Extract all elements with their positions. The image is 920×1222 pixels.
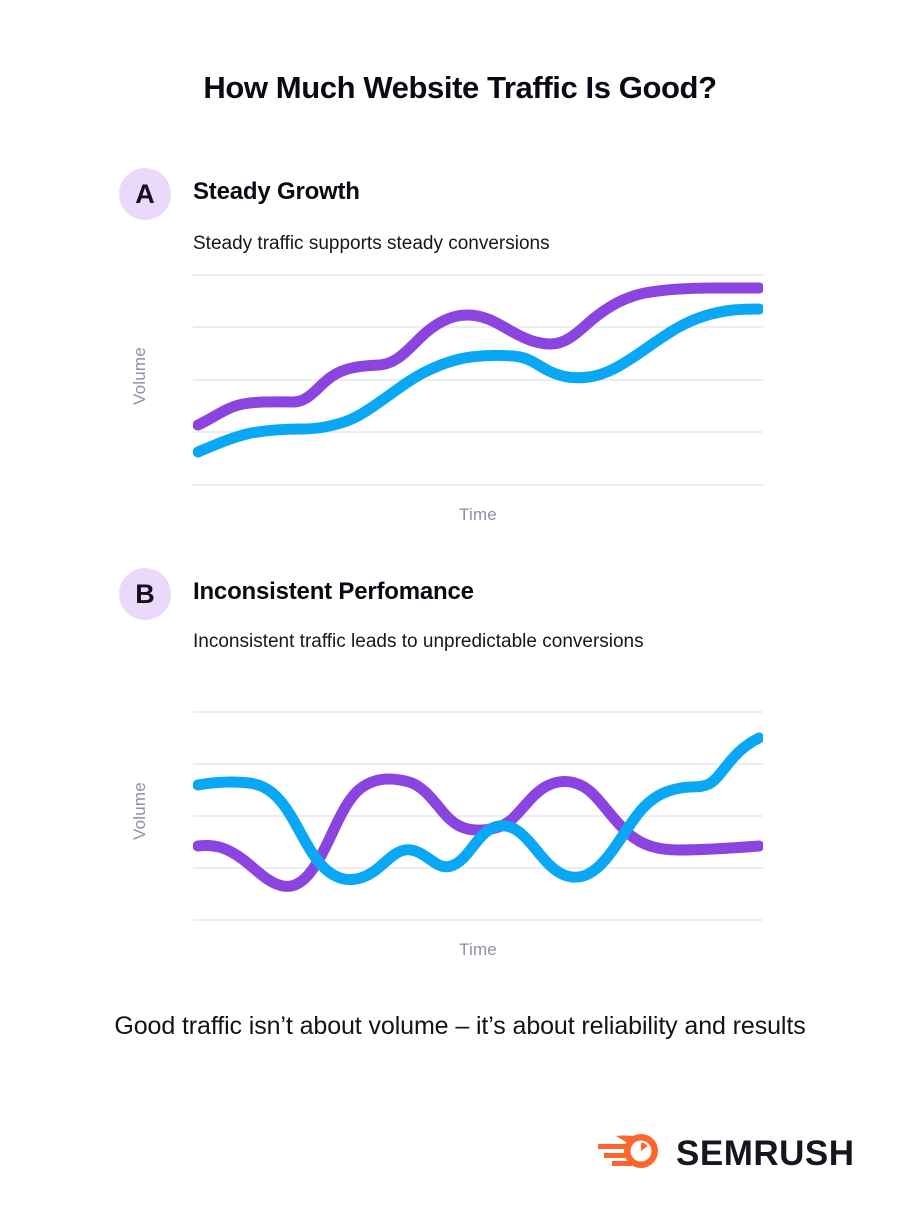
chart-b-series-blue <box>198 738 759 880</box>
summary-caption: Good traffic isn’t about volume – it’s a… <box>110 1008 810 1046</box>
page-title: How Much Website Traffic Is Good? <box>0 70 920 106</box>
chart-a-gridlines <box>193 275 763 485</box>
chart-b-x-axis-label: Time <box>193 940 763 960</box>
section-a-title: Steady Growth <box>193 178 360 206</box>
chart-b-svg <box>193 700 763 922</box>
chart-a-plot <box>193 265 763 487</box>
badge-a: A <box>119 168 171 220</box>
chart-a-x-axis-label: Time <box>193 505 763 525</box>
section-a-header: A Steady Growth <box>0 168 920 224</box>
chart-b-y-axis-label: Volume <box>120 700 160 922</box>
section-a-subtitle: Steady traffic supports steady conversio… <box>193 226 793 261</box>
chart-b-plot <box>193 700 763 922</box>
semrush-logo: SEMRUSH <box>596 1126 876 1180</box>
semrush-comet-icon <box>596 1130 662 1177</box>
section-b-title: Inconsistent Perfomance <box>193 578 474 606</box>
chart-a-y-axis-text: Volume <box>130 347 150 405</box>
chart-a-svg <box>193 265 763 487</box>
section-b-subtitle: Inconsistent traffic leads to unpredicta… <box>193 624 793 659</box>
badge-b: B <box>119 568 171 620</box>
chart-a-y-axis-label: Volume <box>120 265 160 487</box>
semrush-wordmark: SEMRUSH <box>676 1136 855 1171</box>
infographic-page: How Much Website Traffic Is Good? A Stea… <box>0 0 920 1222</box>
section-b-header: B Inconsistent Perfomance <box>0 568 920 624</box>
chart-b-y-axis-text: Volume <box>130 782 150 840</box>
section-steady-growth: A Steady Growth Steady traffic supports … <box>0 168 920 224</box>
section-inconsistent-performance: B Inconsistent Perfomance Inconsistent t… <box>0 568 920 624</box>
